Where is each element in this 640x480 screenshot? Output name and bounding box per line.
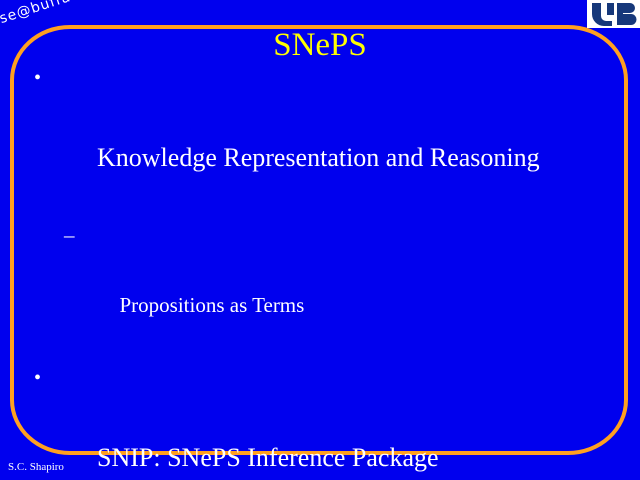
page-title: SNePS — [0, 28, 640, 62]
list-item-label: Knowledge Representation and Reasoning — [97, 143, 540, 172]
footer-author: S.C. Shapiro — [8, 461, 64, 474]
list-item: • Knowledge Representation and Reasoning — [26, 58, 616, 218]
bullet-marker: • — [34, 58, 41, 98]
list-item: – Propositions as Terms — [26, 218, 616, 358]
bullet-marker: • — [34, 358, 41, 398]
slide-canvas: cse@buffalo SNePS • Knowledge Representa… — [0, 0, 640, 480]
cse-buffalo-wordmark: cse@buffalo — [0, 0, 118, 30]
dash-marker: – — [64, 218, 75, 253]
list-item: • SNIP: SNePS Inference Package — [26, 358, 616, 480]
list-item-label: Propositions as Terms — [120, 293, 305, 317]
ub-logo — [587, 0, 640, 28]
ub-logo-icon — [591, 2, 637, 26]
bullet-list: • Knowledge Representation and Reasoning… — [26, 58, 616, 480]
list-item-label: SNIP: SNePS Inference Package — [97, 443, 439, 472]
